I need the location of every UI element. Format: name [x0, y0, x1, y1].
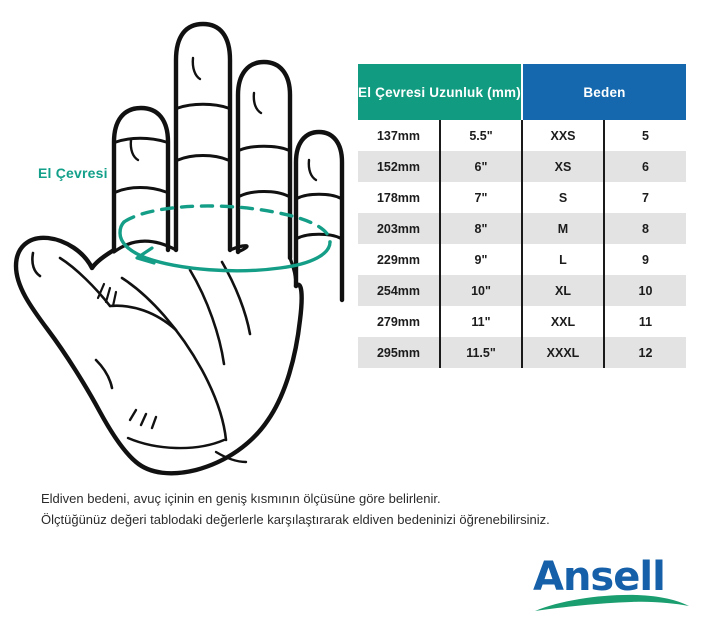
caption-line-1: Eldiven bedeni, avuç içinin en geniş kıs… — [41, 488, 671, 509]
cell-size-letter: XXS — [522, 120, 604, 151]
caption: Eldiven bedeni, avuç içinin en geniş kıs… — [41, 488, 671, 530]
table-row: 279mm 11" XXL 11 — [358, 306, 686, 337]
table-row: 295mm 11.5" XXXL 12 — [358, 337, 686, 368]
table-row: 229mm 9" L 9 — [358, 244, 686, 275]
table-row: 254mm 10" XL 10 — [358, 275, 686, 306]
cell-circumference-in: 8" — [440, 213, 522, 244]
table-row: 137mm 5.5" XXS 5 — [358, 120, 686, 151]
cell-circumference-in: 11.5" — [440, 337, 522, 368]
ansell-logo: Ansell — [533, 556, 693, 612]
cell-circumference-mm: 295mm — [358, 337, 440, 368]
cell-size-letter: S — [522, 182, 604, 213]
table-row: 152mm 6" XS 6 — [358, 151, 686, 182]
cell-circumference-mm: 152mm — [358, 151, 440, 182]
cell-circumference-mm: 137mm — [358, 120, 440, 151]
cell-size-letter: XS — [522, 151, 604, 182]
cell-size-letter: M — [522, 213, 604, 244]
cell-circumference-in: 10" — [440, 275, 522, 306]
header-circumference: El Çevresi Uzunluk (mm) — [358, 64, 522, 120]
cell-size-number: 11 — [604, 306, 686, 337]
cell-size-number: 9 — [604, 244, 686, 275]
cell-circumference-in: 5.5" — [440, 120, 522, 151]
cell-size-number: 6 — [604, 151, 686, 182]
cell-size-letter: XXXL — [522, 337, 604, 368]
cell-circumference-in: 11" — [440, 306, 522, 337]
ansell-swoosh-icon — [533, 592, 693, 614]
table-row: 178mm 7" S 7 — [358, 182, 686, 213]
cell-circumference-mm: 279mm — [358, 306, 440, 337]
glove-size-table: El Çevresi Uzunluk (mm) Beden 137mm 5.5"… — [358, 64, 686, 368]
table-body: 137mm 5.5" XXS 5 152mm 6" XS 6 178mm 7" … — [358, 120, 686, 368]
cell-size-number: 10 — [604, 275, 686, 306]
cell-size-letter: XL — [522, 275, 604, 306]
open-hand-palm-icon — [0, 0, 350, 480]
cell-size-letter: L — [522, 244, 604, 275]
caption-line-2: Ölçtüğünüz değeri tablodaki değerlerle k… — [41, 509, 671, 530]
cell-circumference-in: 9" — [440, 244, 522, 275]
hand-illustration: El Çevresi — [0, 0, 350, 480]
cell-size-number: 5 — [604, 120, 686, 151]
cell-circumference-in: 6" — [440, 151, 522, 182]
cell-circumference-mm: 229mm — [358, 244, 440, 275]
header-size: Beden — [522, 64, 686, 120]
table-header-row: El Çevresi Uzunluk (mm) Beden — [358, 64, 686, 120]
measure-label: El Çevresi — [38, 165, 108, 181]
cell-size-number: 12 — [604, 337, 686, 368]
table-row: 203mm 8" M 8 — [358, 213, 686, 244]
cell-circumference-mm: 178mm — [358, 182, 440, 213]
cell-size-number: 7 — [604, 182, 686, 213]
cell-circumference-mm: 203mm — [358, 213, 440, 244]
table-header: El Çevresi Uzunluk (mm) Beden — [358, 64, 686, 120]
cell-size-number: 8 — [604, 213, 686, 244]
cell-circumference-in: 7" — [440, 182, 522, 213]
glove-size-chart-page: El Çevresi El Çevresi Uzunluk (mm) Beden… — [0, 0, 706, 619]
cell-size-letter: XXL — [522, 306, 604, 337]
cell-circumference-mm: 254mm — [358, 275, 440, 306]
